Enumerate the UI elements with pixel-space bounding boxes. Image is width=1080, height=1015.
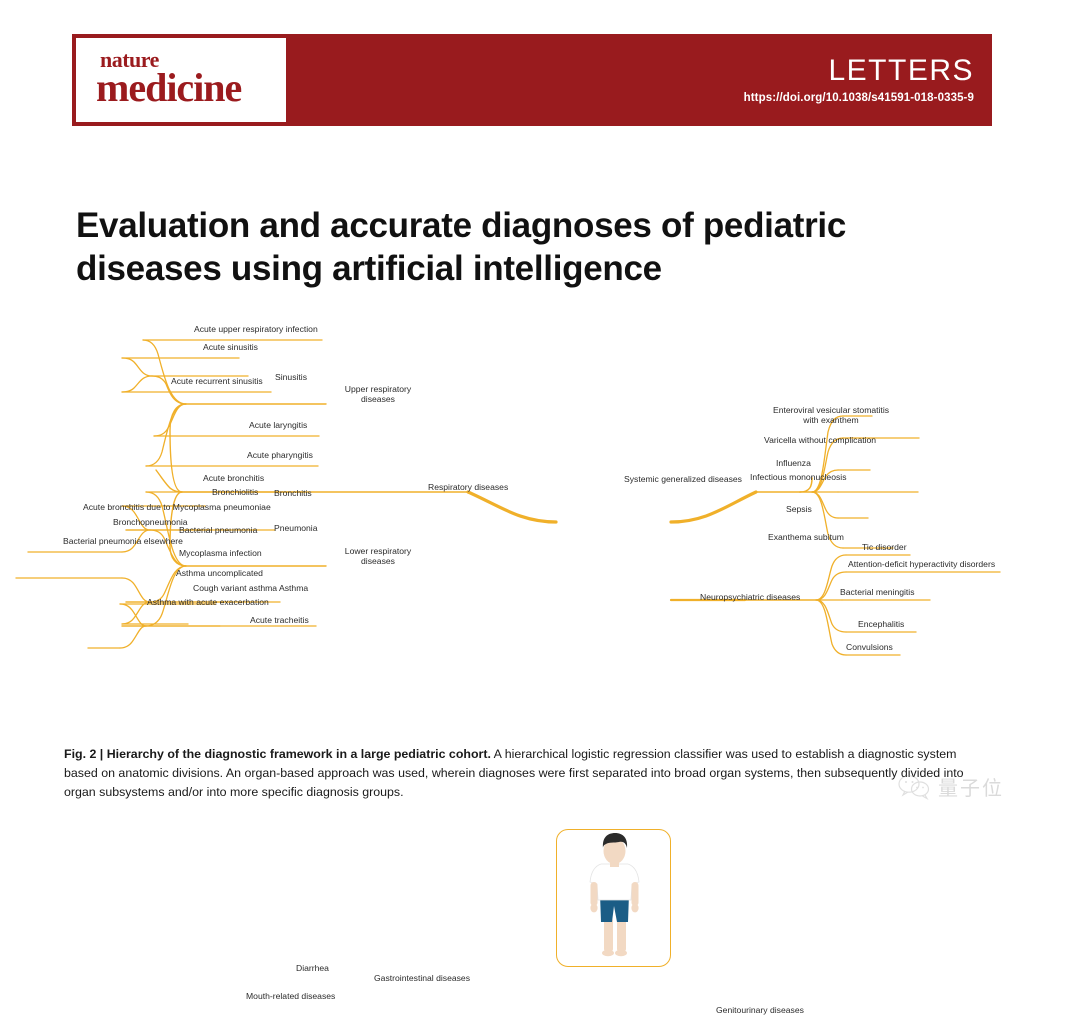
node-cough-variant-asthma[interactable]: Cough variant asthma bbox=[193, 583, 277, 593]
node-mouth-related-diseases[interactable]: Mouth-related diseases bbox=[246, 991, 335, 1001]
node-acute-recurrent-sinusitis[interactable]: Acute recurrent sinusitis bbox=[171, 376, 263, 386]
node-influenza[interactable]: Influenza bbox=[776, 458, 811, 468]
node-bronchitis[interactable]: Bronchitis bbox=[274, 488, 312, 498]
node-bronchiolitis[interactable]: Bronchiolitis bbox=[212, 487, 258, 497]
node-bacterial-pneumonia[interactable]: Bacterial pneumonia bbox=[179, 525, 257, 535]
node-genitourinary-diseases[interactable]: Genitourinary diseases bbox=[716, 1005, 804, 1015]
node-acute-upper-respiratory-infection[interactable]: Acute upper respiratory infection bbox=[194, 324, 318, 334]
enteroviral-line2: with exanthem bbox=[803, 415, 858, 425]
node-adhd[interactable]: Attention-deficit hyperactivity disorder… bbox=[848, 559, 995, 569]
wechat-icon bbox=[898, 774, 932, 800]
node-sinusitis[interactable]: Sinusitis bbox=[275, 372, 307, 382]
node-mycoplasma-infection[interactable]: Mycoplasma infection bbox=[179, 548, 262, 558]
nature-medicine-logo: nature medicine bbox=[76, 38, 286, 122]
lower-resp-line2: diseases bbox=[361, 556, 395, 566]
figure-2-mindmap: Acute upper respiratory infection Sinusi… bbox=[0, 310, 1080, 730]
node-acute-tracheitis[interactable]: Acute tracheitis bbox=[250, 615, 309, 625]
node-bacterial-meningitis[interactable]: Bacterial meningitis bbox=[840, 587, 915, 597]
node-sepsis[interactable]: Sepsis bbox=[786, 504, 812, 514]
node-acute-pharyngitis[interactable]: Acute pharyngitis bbox=[247, 450, 313, 460]
node-enteroviral-vesicular-stomatitis[interactable]: Enteroviral vesicular stomatitis with ex… bbox=[746, 405, 916, 426]
page-title: Evaluation and accurate diagnoses of ped… bbox=[76, 205, 976, 290]
node-acute-bronchitis[interactable]: Acute bronchitis bbox=[203, 473, 264, 483]
node-varicella-without-complication[interactable]: Varicella without complication bbox=[764, 435, 876, 445]
doi-link[interactable]: https://doi.org/10.1038/s41591-018-0335-… bbox=[744, 92, 974, 104]
watermark-text: 量子位 bbox=[938, 772, 1004, 801]
node-respiratory-diseases[interactable]: Respiratory diseases bbox=[428, 482, 508, 492]
node-encephalitis[interactable]: Encephalitis bbox=[858, 619, 904, 629]
node-pneumonia[interactable]: Pneumonia bbox=[274, 523, 317, 533]
node-systemic-generalized-diseases[interactable]: Systemic generalized diseases bbox=[624, 474, 742, 484]
center-node-box[interactable] bbox=[556, 829, 671, 967]
node-asthma[interactable]: Asthma bbox=[279, 583, 308, 593]
upper-resp-line1: Upper respiratory bbox=[345, 384, 411, 394]
figure-caption-label: Fig. 2 | Hierarchy of the diagnostic fra… bbox=[64, 747, 491, 761]
node-lower-respiratory-diseases[interactable]: Lower respiratory diseases bbox=[335, 546, 421, 567]
pediatric-patient-illustration bbox=[557, 830, 672, 968]
node-bacterial-pneumonia-elsewhere[interactable]: Bacterial pneumonia elsewhere bbox=[63, 536, 183, 546]
node-exanthema-subitum[interactable]: Exanthema subitum bbox=[768, 532, 844, 542]
figure-caption: Fig. 2 | Hierarchy of the diagnostic fra… bbox=[64, 745, 979, 802]
node-infectious-mononucleosis[interactable]: Infectious mononucleosis bbox=[750, 472, 847, 482]
node-asthma-uncomplicated[interactable]: Asthma uncomplicated bbox=[176, 568, 263, 578]
lower-resp-line1: Lower respiratory bbox=[345, 546, 411, 556]
node-convulsions[interactable]: Convulsions bbox=[846, 642, 893, 652]
header-right-group: LETTERS https://doi.org/10.1038/s41591-0… bbox=[286, 34, 992, 126]
node-acute-sinusitis[interactable]: Acute sinusitis bbox=[203, 342, 258, 352]
node-diarrhea[interactable]: Diarrhea bbox=[296, 963, 329, 973]
node-bronchopneumonia[interactable]: Bronchopneumonia bbox=[113, 517, 188, 527]
node-upper-respiratory-diseases[interactable]: Upper respiratory diseases bbox=[335, 384, 421, 405]
node-neuropsychiatric-diseases[interactable]: Neuropsychiatric diseases bbox=[700, 592, 800, 602]
upper-resp-line2: diseases bbox=[361, 394, 395, 404]
enteroviral-line1: Enteroviral vesicular stomatitis bbox=[773, 405, 889, 415]
node-acute-bronchitis-mycoplasma[interactable]: Acute bronchitis due to Mycoplasma pneum… bbox=[83, 502, 271, 512]
node-asthma-with-acute-exacerbation[interactable]: Asthma with acute exacerbation bbox=[147, 597, 269, 607]
section-title-letters: LETTERS bbox=[828, 56, 974, 86]
journal-header-band: nature medicine LETTERS https://doi.org/… bbox=[72, 34, 992, 126]
watermark: 量子位 bbox=[898, 772, 1004, 801]
node-acute-laryngitis[interactable]: Acute laryngitis bbox=[249, 420, 307, 430]
node-gastrointestinal-diseases[interactable]: Gastrointestinal diseases bbox=[374, 973, 470, 983]
logo-medicine-word: medicine bbox=[96, 70, 241, 106]
node-tic-disorder[interactable]: Tic disorder bbox=[862, 542, 907, 552]
